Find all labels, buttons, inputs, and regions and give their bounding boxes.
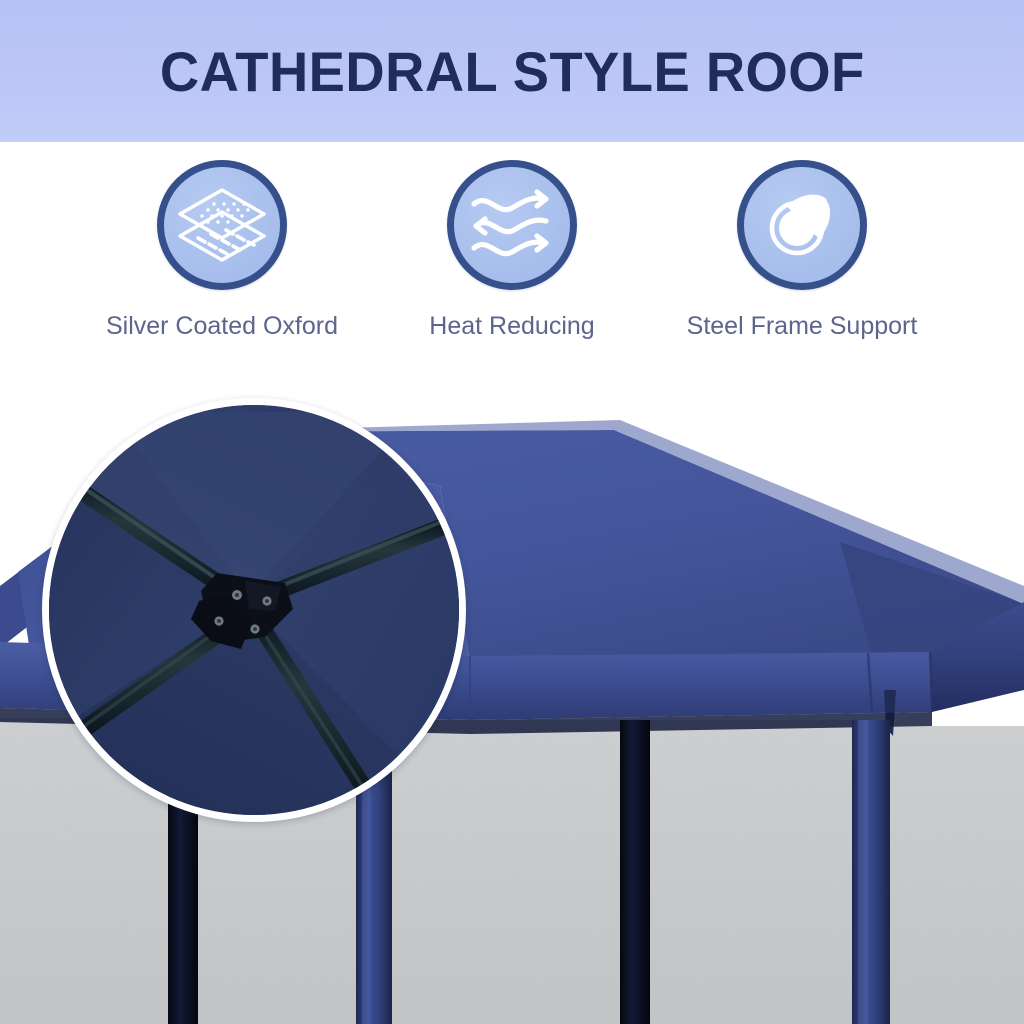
header-banner: CATHEDRAL STYLE ROOF [0,0,1024,142]
feature-label: Silver Coated Oxford [106,312,338,341]
feature-item-heat-reducing: Heat Reducing [367,160,657,341]
feature-label: Heat Reducing [429,312,594,341]
page-title: CATHEDRAL STYLE ROOF [160,39,865,104]
steel-tube-icon [757,180,847,270]
feature-row: Silver Coated Oxford Heat Reducing [0,160,1024,380]
leg-post [852,720,890,1024]
leg-post [620,720,650,1024]
feature-icon-badge [737,160,867,290]
feature-item-silver-coated-oxford: Silver Coated Oxford [77,160,367,341]
roof-hub-closeup [42,398,466,822]
feature-label: Steel Frame Support [687,312,918,341]
hub-detail-illustration [49,405,459,815]
feature-icon-badge [447,160,577,290]
fabric-layers-icon [174,182,270,268]
airflow-waves-icon [464,186,560,264]
feature-item-steel-frame-support: Steel Frame Support [657,160,947,341]
feature-icon-badge [157,160,287,290]
